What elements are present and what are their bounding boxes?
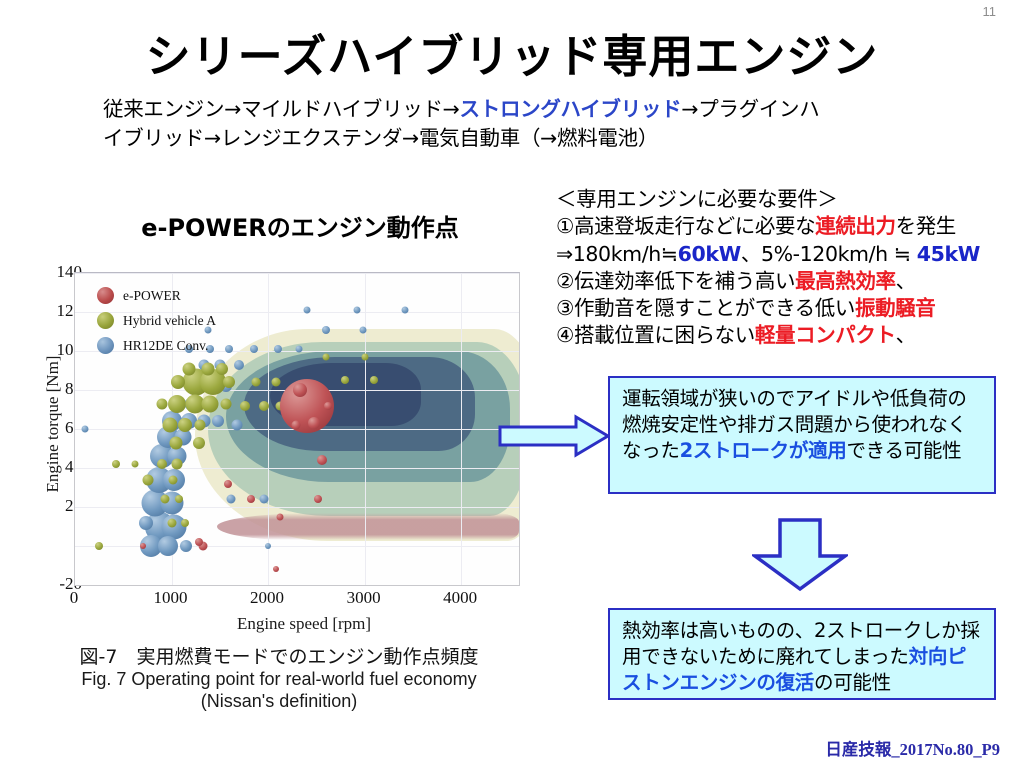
text-segment: 45kW: [917, 242, 980, 266]
text-segment: 、: [896, 323, 916, 347]
data-bubble: [322, 326, 330, 334]
data-bubble: [212, 415, 224, 427]
data-bubble: [308, 417, 320, 429]
data-bubble: [353, 307, 360, 314]
x-tick-label: 1000: [136, 588, 206, 608]
data-bubble: [95, 542, 103, 550]
data-bubble: [273, 566, 279, 572]
text-segment: ⇒180km/h≒: [556, 242, 678, 266]
text-segment: ③作動音を隠すことができる低い: [556, 296, 855, 320]
data-bubble: [162, 418, 177, 433]
text-segment: 、5%-120km/h ≒: [741, 242, 917, 266]
data-bubble: [303, 307, 310, 314]
chart-container: Engine torque [Nm] Engine speed [rpm] 14…: [14, 262, 534, 642]
requirement-line: ③作動音を隠すことができる低い振動騒音: [556, 295, 1016, 322]
gridline-vertical: [365, 273, 366, 585]
x-tick-label: 3000: [329, 588, 399, 608]
gridline-horizontal: [75, 468, 519, 469]
data-bubble: [220, 398, 231, 409]
data-bubble: [292, 421, 301, 430]
data-bubble: [216, 363, 228, 375]
data-bubble: [160, 495, 169, 504]
data-bubble: [370, 376, 378, 384]
data-bubble: [167, 518, 176, 527]
data-bubble: [202, 362, 215, 375]
data-bubble: [276, 513, 283, 520]
data-bubble: [252, 378, 261, 387]
subtitle-highlight: ストロングハイブリッド: [460, 97, 682, 121]
legend-marker-icon: [97, 312, 114, 329]
x-tick-label: 2000: [232, 588, 302, 608]
text-segment: ①高速登坂走行などに必要な: [556, 214, 815, 238]
data-bubble: [224, 480, 232, 488]
data-bubble: [181, 519, 189, 527]
data-bubble: [259, 401, 269, 411]
x-tick-label: 0: [39, 588, 109, 608]
figure-caption-en-line1: Fig. 7 Operating point for real-world fu…: [24, 669, 534, 691]
data-bubble: [317, 455, 327, 465]
text-segment: 60kW: [678, 242, 741, 266]
requirement-line: ④搭載位置に困らない軽量コンパクト、: [556, 322, 1016, 349]
legend-item: e-POWER: [97, 287, 216, 304]
data-bubble: [112, 460, 120, 468]
data-bubble: [195, 420, 206, 431]
page-number: 11: [983, 4, 997, 19]
data-bubble: [202, 395, 219, 412]
y-tick-label: 20: [22, 496, 82, 516]
data-bubble: [178, 418, 192, 432]
legend-label: HR12DE Conv.: [123, 338, 208, 354]
y-tick-label: 40: [22, 457, 82, 477]
text-segment: 連続出力: [815, 214, 895, 238]
data-bubble: [260, 495, 269, 504]
chart-legend: e-POWER Hybrid vehicle A HR12DE Conv.: [97, 287, 216, 362]
data-bubble: [193, 437, 205, 449]
slide-canvas: 11 シリーズハイブリッド専用エンジン 従来エンジン→マイルドハイブリッド→スト…: [0, 0, 1024, 768]
requirement-line: ②伝達効率低下を補う高い最高熱効率、: [556, 268, 1016, 295]
data-bubble: [359, 326, 366, 333]
data-bubble: [223, 376, 235, 388]
gridline-vertical: [268, 273, 269, 585]
text-segment: 軽量コンパクト: [755, 323, 896, 347]
data-bubble: [247, 495, 255, 503]
data-bubble: [157, 459, 167, 469]
data-bubble: [180, 540, 192, 552]
data-bubble: [341, 376, 349, 384]
data-bubble: [171, 375, 185, 389]
data-bubble: [322, 353, 329, 360]
figure-caption-jp: 図-7 実用燃費モードでのエンジン動作点頻度: [24, 646, 534, 669]
data-bubble: [227, 495, 236, 504]
data-bubble: [195, 538, 203, 546]
data-bubble: [168, 395, 186, 413]
data-bubble: [274, 345, 282, 353]
requirement-line: ①高速登坂走行などに必要な連続出力を発生: [556, 213, 1016, 240]
data-bubble: [314, 495, 322, 503]
x-tick-label: 4000: [425, 588, 495, 608]
data-bubble: [140, 543, 146, 549]
y-tick-label: 80: [22, 379, 82, 399]
data-bubble: [293, 383, 307, 397]
plot-area: e-POWER Hybrid vehicle A HR12DE Conv.: [74, 272, 520, 586]
data-bubble: [265, 543, 271, 549]
contour-band-rose: [217, 513, 519, 540]
data-bubble: [158, 536, 178, 556]
arrow-down-icon: [752, 518, 848, 592]
arrow-right-icon: [498, 414, 610, 458]
data-bubble: [156, 398, 167, 409]
data-bubble: [250, 345, 258, 353]
y-tick-label: 120: [22, 301, 82, 321]
legend-marker-icon: [97, 337, 114, 354]
data-bubble: [240, 401, 250, 411]
callout-box-2: 熱効率は高いものの、2ストロークしか採用できないために廃れてしまった対向ピストン…: [608, 608, 996, 700]
requirements-items: ①高速登坂走行などに必要な連続出力を発生⇒180km/h≒60kW、5%-120…: [556, 213, 1016, 349]
gridline-vertical: [461, 273, 462, 585]
page-title: シリーズハイブリッド専用エンジン: [0, 20, 1024, 85]
data-bubble: [271, 378, 280, 387]
data-bubble: [361, 353, 368, 360]
text-segment: を発生: [896, 214, 956, 238]
legend-label: e-POWER: [123, 288, 181, 304]
figure-caption-en-line2: (Nissan's definition): [24, 691, 534, 713]
chart-heading: e-POWERのエンジン動作点: [95, 208, 505, 243]
data-bubble: [402, 307, 409, 314]
subtitle-flow: 従来エンジン→マイルドハイブリッド→ストロングハイブリッド→プラグインハ イブリ…: [103, 95, 933, 153]
text-segment: の可能性: [814, 671, 891, 694]
data-bubble: [170, 436, 183, 449]
data-bubble: [234, 360, 244, 370]
text-segment: ④搭載位置に困らない: [556, 323, 755, 347]
callout-box-1: 運転領域が狭いのでアイドルや低負荷の燃焼安定性や排ガス問題から使われなくなった2…: [608, 376, 996, 494]
data-bubble: [175, 495, 183, 503]
figure-caption: 図-7 実用燃費モードでのエンジン動作点頻度 Fig. 7 Operating …: [24, 646, 534, 713]
legend-label: Hybrid vehicle A: [123, 313, 216, 329]
data-bubble: [139, 516, 153, 530]
data-bubble: [143, 474, 154, 485]
requirement-line: ⇒180km/h≒60kW、5%-120km/h ≒ 45kW: [556, 241, 1016, 268]
legend-item: Hybrid vehicle A: [97, 312, 216, 329]
y-tick-label: 60: [22, 418, 82, 438]
callout-1-text: 運転領域が狭いのでアイドルや低負荷の燃焼安定性や排ガス問題から使われなくなった2…: [622, 387, 967, 462]
text-segment: ②伝達効率低下を補う高い: [556, 269, 795, 293]
data-bubble: [131, 461, 138, 468]
data-bubble: [324, 402, 332, 410]
subtitle-part-2: →プラグインハ: [681, 97, 819, 121]
callout-2-text: 熱効率は高いものの、2ストロークしか採用できないために廃れてしまった対向ピストン…: [622, 619, 980, 694]
data-bubble: [81, 426, 88, 433]
footer-source: 日産技報_2017No.80_P9: [825, 736, 1000, 760]
data-bubble: [172, 459, 183, 470]
gridline-horizontal: [75, 273, 519, 274]
text-segment: できる可能性: [846, 439, 961, 462]
subtitle-part-1: 従来エンジン→マイルドハイブリッド→: [103, 97, 460, 121]
y-tick-label: 140: [22, 262, 82, 282]
legend-marker-icon: [97, 287, 114, 304]
requirements-list: ＜専用エンジンに必要な要件＞ ①高速登坂走行などに必要な連続出力を発生⇒180k…: [556, 186, 1016, 350]
requirements-header: ＜専用エンジンに必要な要件＞: [556, 186, 1016, 213]
subtitle-line-2: イブリッド→レンジエクステンダ→電気自動車（→燃料電池）: [103, 126, 658, 150]
x-axis-title: Engine speed [rpm]: [74, 614, 534, 634]
data-bubble: [182, 362, 195, 375]
data-bubble: [225, 345, 233, 353]
legend-item: HR12DE Conv.: [97, 337, 216, 354]
y-tick-label: 100: [22, 340, 82, 360]
y-tick-label: 0: [22, 535, 82, 555]
text-segment: 最高熱効率: [795, 269, 896, 293]
text-segment: 2ストロークが適用: [680, 439, 847, 462]
text-segment: 振動騒音: [855, 296, 935, 320]
data-bubble: [295, 346, 302, 353]
data-bubble: [232, 420, 243, 431]
data-bubble: [169, 475, 178, 484]
text-segment: 、: [896, 269, 916, 293]
